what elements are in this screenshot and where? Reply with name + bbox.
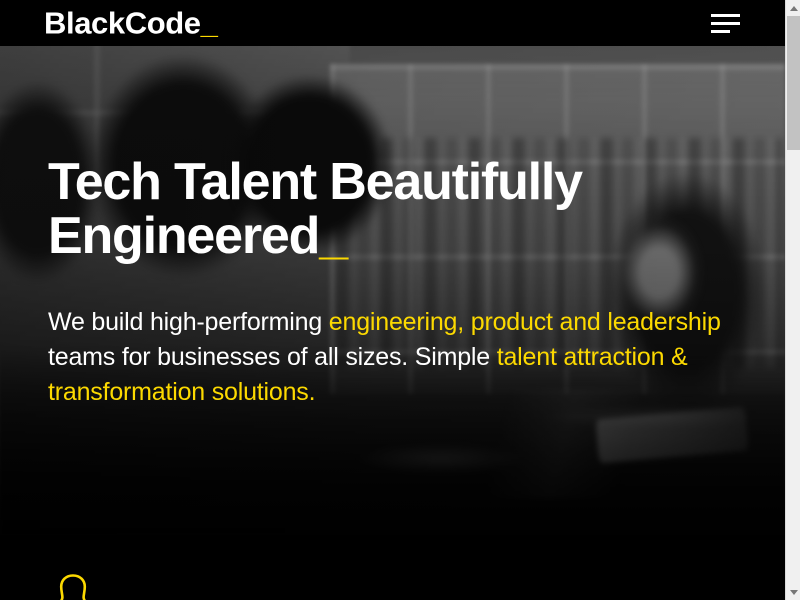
vertical-scrollbar[interactable] — [785, 0, 800, 600]
features-section — [0, 535, 785, 600]
site-header: BlackCode_ — [0, 0, 785, 46]
menu-bar-top — [711, 14, 740, 17]
hero-title-text: Tech Talent Beautifully Engineered — [48, 153, 582, 265]
scroll-up-arrow-icon[interactable] — [786, 0, 800, 16]
menu-bar-bottom — [711, 30, 730, 33]
hero-content: Tech Talent Beautifully Engineered_ We b… — [48, 156, 748, 410]
browser-viewport: BlackCode_ — [0, 0, 800, 600]
hero-subtitle-accent-1: engineering, product and leadership — [329, 308, 721, 336]
scroll-up-arrow-glyph — [790, 6, 798, 11]
site-logo[interactable]: BlackCode_ — [44, 8, 217, 39]
scroll-down-arrow-glyph — [790, 590, 798, 595]
logo-accent-underscore: _ — [201, 6, 218, 41]
scroll-down-arrow-icon[interactable] — [786, 584, 800, 600]
page-container: BlackCode_ — [0, 0, 785, 600]
hero-section: Tech Talent Beautifully Engineered_ We b… — [0, 46, 785, 535]
hero-subtitle-plain-2: teams for businesses of all sizes. Simpl… — [48, 343, 497, 371]
scrollbar-thumb[interactable] — [787, 16, 800, 150]
logo-text: BlackCode — [44, 6, 201, 41]
hero-title-accent-underscore: _ — [319, 207, 347, 265]
hero-subtitle: We build high-performing engineering, pr… — [48, 305, 738, 410]
person-head-outline-icon — [56, 573, 90, 600]
hero-subtitle-plain-1: We build high-performing — [48, 308, 329, 336]
menu-bar-middle — [711, 22, 740, 25]
hamburger-menu-icon[interactable] — [711, 13, 741, 33]
hero-title: Tech Talent Beautifully Engineered_ — [48, 156, 688, 263]
